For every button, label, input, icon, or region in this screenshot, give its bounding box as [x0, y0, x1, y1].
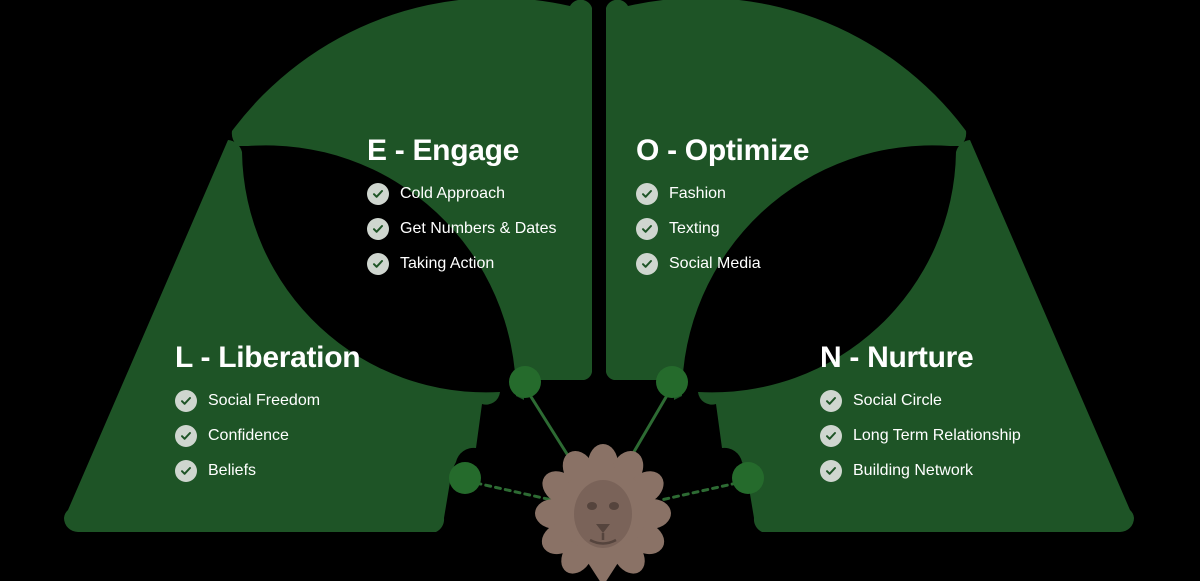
check-icon: [636, 218, 658, 240]
list-item-label: Confidence: [208, 426, 289, 445]
list-item-label: Cold Approach: [400, 184, 505, 203]
lion-head-emblem: [534, 444, 672, 581]
list-item-label: Fashion: [669, 184, 726, 203]
list-item-label: Social Freedom: [208, 391, 320, 410]
list-item-label: Texting: [669, 219, 720, 238]
check-icon: [636, 253, 658, 275]
connector-liberation: [476, 483, 552, 500]
panel-nurture[interactable]: N - Nurture Social Circle Long Term Rela…: [820, 341, 1021, 482]
list-item[interactable]: Fashion: [636, 183, 809, 205]
node-optimize[interactable]: [656, 366, 688, 398]
list-item[interactable]: Confidence: [175, 425, 360, 447]
panel-title-nurture: N - Nurture: [820, 341, 1021, 374]
bullet-list-engage: Cold Approach Get Numbers & Dates Taking…: [367, 183, 557, 275]
panel-liberation[interactable]: L - Liberation Social Freedom Confidence…: [175, 341, 360, 482]
list-item-label: Social Circle: [853, 391, 942, 410]
list-item[interactable]: Social Circle: [820, 390, 1021, 412]
list-item[interactable]: Taking Action: [367, 253, 557, 275]
check-icon: [175, 390, 197, 412]
check-icon: [820, 425, 842, 447]
panel-title-optimize: O - Optimize: [636, 134, 809, 167]
check-icon: [175, 460, 197, 482]
list-item-label: Social Media: [669, 254, 761, 273]
bullet-list-optimize: Fashion Texting Social Media: [636, 183, 809, 275]
list-item[interactable]: Beliefs: [175, 460, 360, 482]
node-liberation[interactable]: [449, 462, 481, 494]
panel-title-engage: E - Engage: [367, 134, 557, 167]
panel-optimize[interactable]: O - Optimize Fashion Texting Social Medi…: [636, 134, 809, 275]
list-item-label: Get Numbers & Dates: [400, 219, 557, 238]
check-icon: [367, 218, 389, 240]
check-icon: [367, 183, 389, 205]
list-item[interactable]: Building Network: [820, 460, 1021, 482]
check-icon: [367, 253, 389, 275]
node-engage[interactable]: [509, 366, 541, 398]
fan-shapes: [0, 0, 1200, 581]
check-icon: [820, 390, 842, 412]
list-item[interactable]: Long Term Relationship: [820, 425, 1021, 447]
list-item-label: Building Network: [853, 461, 973, 480]
bullet-list-nurture: Social Circle Long Term Relationship Bui…: [820, 390, 1021, 482]
list-item[interactable]: Get Numbers & Dates: [367, 218, 557, 240]
list-item-label: Beliefs: [208, 461, 256, 480]
panel-title-liberation: L - Liberation: [175, 341, 360, 374]
list-item[interactable]: Texting: [636, 218, 809, 240]
list-item[interactable]: Cold Approach: [367, 183, 557, 205]
connector-nurture: [661, 483, 737, 500]
node-nurture[interactable]: [732, 462, 764, 494]
check-icon: [820, 460, 842, 482]
list-item-label: Taking Action: [400, 254, 494, 273]
diagram-canvas: E - Engage Cold Approach Get Numbers & D…: [0, 0, 1200, 581]
list-item-label: Long Term Relationship: [853, 426, 1021, 445]
list-item[interactable]: Social Media: [636, 253, 809, 275]
check-icon: [636, 183, 658, 205]
connector-engage: [528, 392, 572, 462]
panel-engage[interactable]: E - Engage Cold Approach Get Numbers & D…: [367, 134, 557, 275]
lion-face: [574, 480, 632, 548]
check-icon: [175, 425, 197, 447]
list-item[interactable]: Social Freedom: [175, 390, 360, 412]
bullet-list-liberation: Social Freedom Confidence Beliefs: [175, 390, 360, 482]
